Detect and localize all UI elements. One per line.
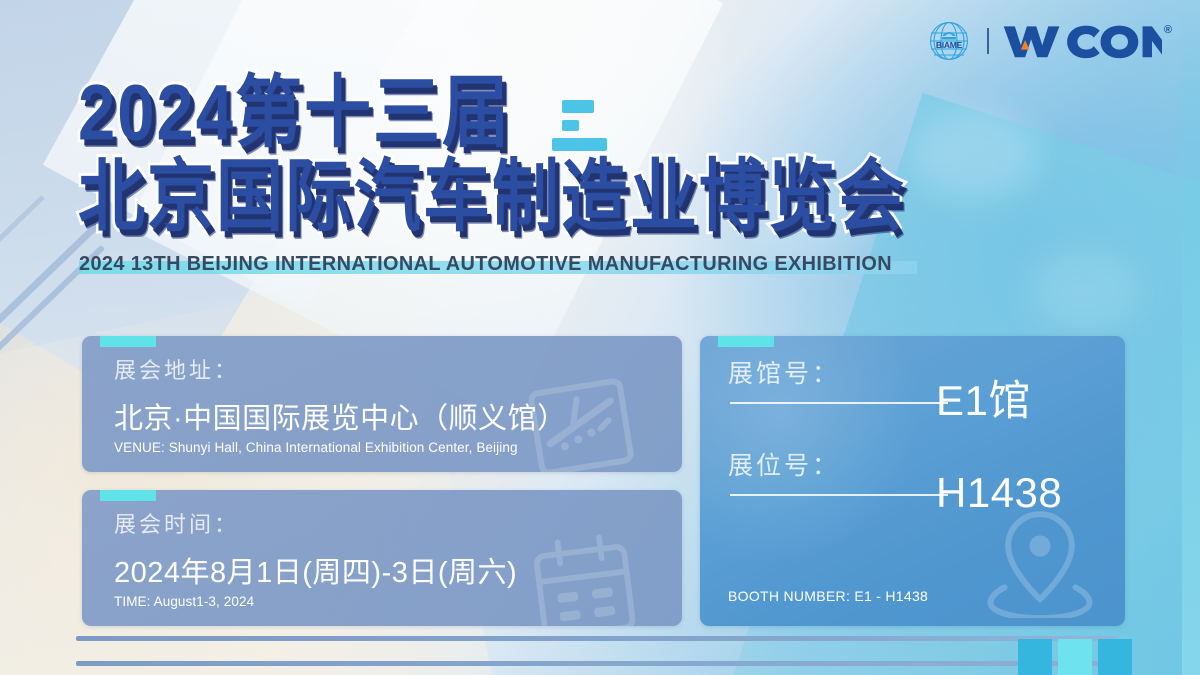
venue-card-tab — [100, 336, 156, 347]
booth-stand-label: 展位号： — [728, 454, 840, 479]
venue-label: 展会地址： — [114, 360, 682, 382]
color-block-2 — [1058, 639, 1092, 675]
bottom-rule-upper — [76, 636, 1116, 641]
venue-card: 展会地址： 北京·中国国际展览中心（顺义馆） VENUE: Shunyi Hal… — [82, 336, 682, 472]
brand-bar: BIAME ® — [924, 18, 1172, 64]
booth-stand-value: H1438 — [936, 472, 1062, 514]
booth-hall-label: 展馆号： — [728, 362, 840, 387]
time-value-en: TIME: August1-3, 2024 — [114, 594, 682, 609]
booth-hall-row: 展馆号： E1馆 — [700, 362, 1125, 454]
booth-hall-value: E1馆 — [936, 380, 1031, 422]
venue-value-en: VENUE: Shunyi Hall, China International … — [114, 440, 682, 455]
headline-line-2: 北京国际汽车制造业博览会 — [78, 160, 906, 236]
time-card-tab — [100, 490, 156, 501]
exhibition-poster: BIAME ® 2024第十三届 北京国际汽车制造业博览会 — [0, 0, 1200, 675]
bottom-rule-main — [76, 661, 1122, 666]
subtitle-en: 2024 13TH BEIJING INTERNATIONAL AUTOMOTI… — [79, 252, 892, 276]
time-card: 展会时间： 2024年8月1日(周四)-3日(周六) TIME: August1… — [82, 490, 682, 626]
biame-logo-icon: BIAME — [924, 18, 974, 64]
bottom-color-blocks — [1018, 639, 1132, 675]
time-value: 2024年8月1日(周四)-3日(周六) — [114, 558, 682, 588]
brand-divider — [987, 28, 989, 54]
accent-bar-3 — [552, 138, 607, 151]
headline-accent-marks — [552, 100, 607, 151]
color-block-3 — [1098, 639, 1132, 675]
bg-right-edge-gradient — [1182, 0, 1200, 675]
time-label: 展会时间： — [114, 514, 682, 536]
venue-card-body: 展会地址： 北京·中国国际展览中心（顺义馆） VENUE: Shunyi Hal… — [82, 336, 682, 455]
booth-stand-rule — [730, 494, 948, 496]
accent-bar-1 — [562, 100, 594, 113]
booth-panel: 展馆号： E1馆 展位号： H1438 BOOTH NUMBER: E1 - H… — [700, 336, 1125, 626]
bg-light-blob-1 — [910, 110, 1040, 200]
venue-value: 北京·中国国际展览中心（顺义馆） — [114, 404, 682, 434]
page-title: 2024第十三届 北京国际汽车制造业博览会 — [78, 76, 906, 225]
booth-hall-rule — [730, 402, 948, 404]
booth-stand-row: 展位号： H1438 — [700, 454, 1125, 546]
accent-bar-2 — [562, 120, 579, 131]
time-card-body: 展会时间： 2024年8月1日(周四)-3日(周六) TIME: August1… — [82, 490, 682, 609]
registered-trademark-icon: ® — [1164, 24, 1172, 36]
svg-text:BIAME: BIAME — [936, 40, 963, 50]
bg-stripe-3 — [0, 195, 45, 282]
color-block-1 — [1018, 639, 1052, 675]
subtitle-block: 2024 13TH BEIJING INTERNATIONAL AUTOMOTI… — [79, 252, 917, 276]
bg-light-blob-3 — [1030, 250, 1140, 330]
booth-number-footer: BOOTH NUMBER: E1 - H1438 — [728, 588, 928, 604]
headline-line-1: 2024第十三届 — [78, 76, 906, 152]
booth-panel-body: 展馆号： E1馆 展位号： H1438 — [700, 336, 1125, 546]
wcon-logo-icon: ® — [1002, 23, 1172, 59]
